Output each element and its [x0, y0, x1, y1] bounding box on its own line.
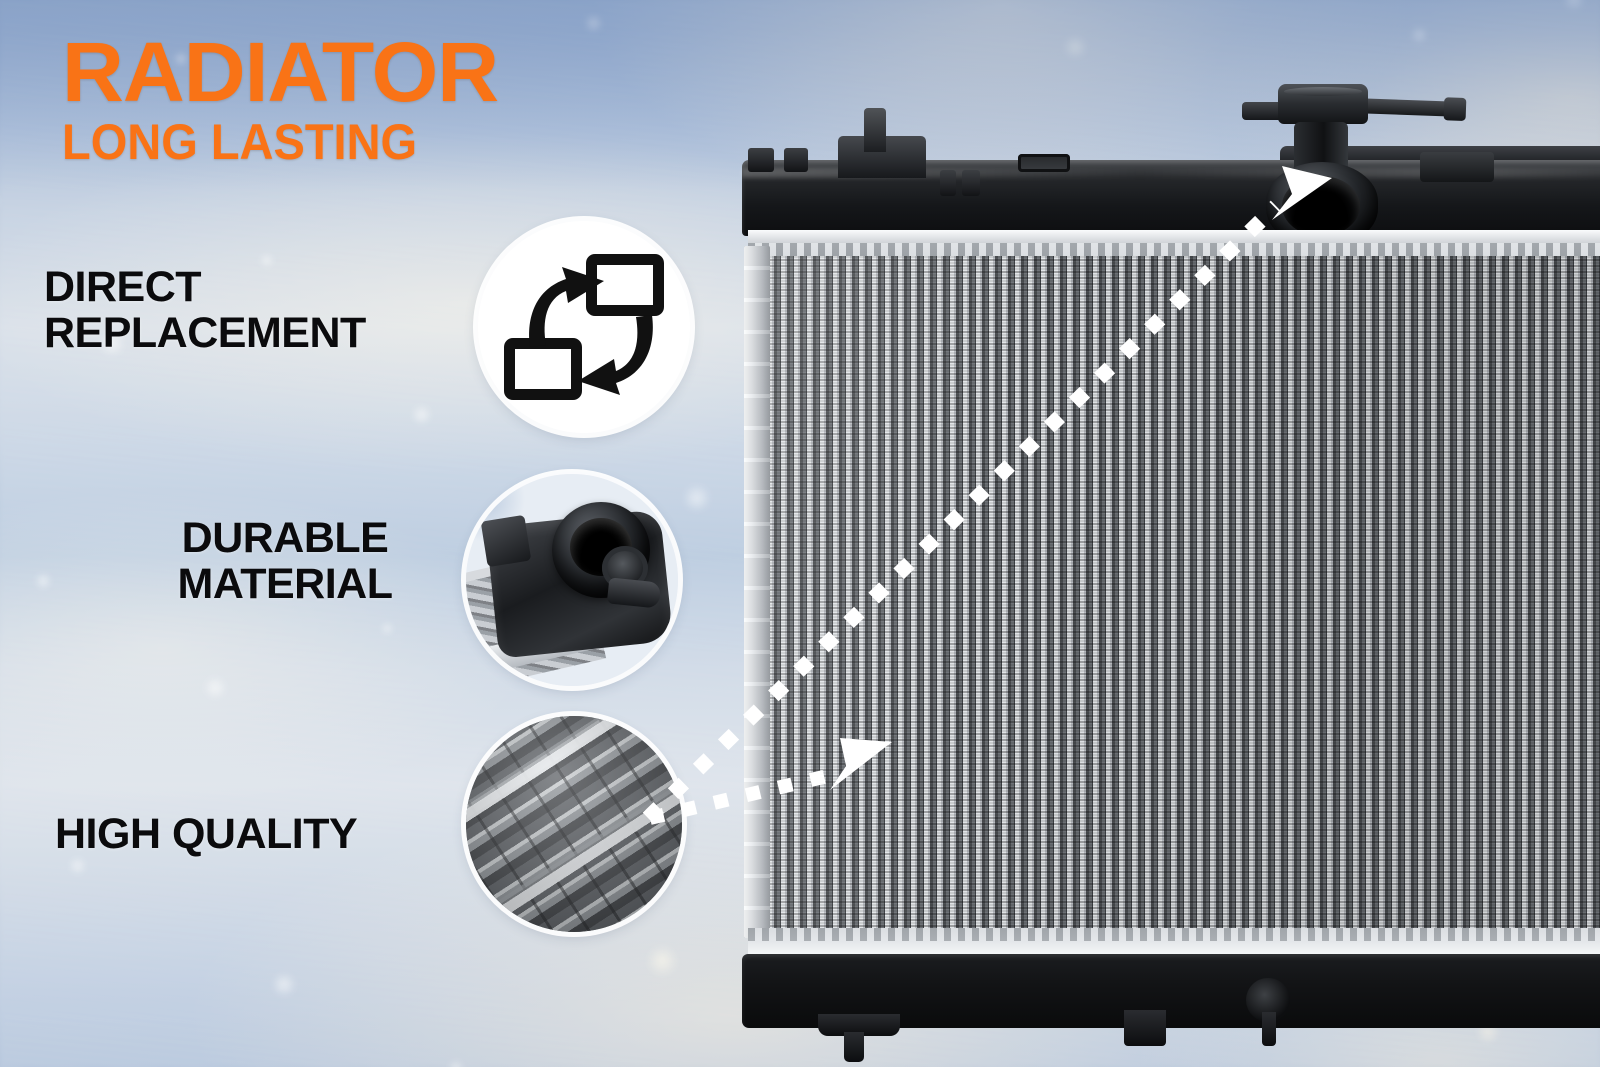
top-tank-right-boss	[1420, 152, 1494, 182]
swap-icon-arrow-down	[564, 311, 660, 403]
side-rail-left	[744, 246, 770, 938]
feature-badge-direct-replacement	[478, 221, 690, 433]
top-tank-notch-a	[940, 170, 956, 196]
swap-exchange-icon	[478, 221, 690, 433]
product-marketing-banner: RADIATOR LONG LASTING DIRECT REPLACEMENT…	[0, 0, 1600, 1067]
filler-neck-bore	[1282, 176, 1360, 236]
feature-label-high-quality: HIGH QUALITY	[55, 812, 357, 858]
feature-badge-durable-material	[466, 474, 678, 686]
top-tank-tab-left-a	[748, 148, 774, 172]
feature-label-direct-replacement: DIRECT REPLACEMENT	[44, 265, 366, 356]
top-tank-boss-post	[864, 108, 886, 152]
filler-neck-cap	[1278, 84, 1368, 124]
feature-label-durable-material: DURABLE MATERIAL	[150, 516, 420, 607]
radiator-fin-macro-photo	[466, 716, 682, 932]
page-subtitle: LONG LASTING	[62, 117, 464, 167]
tank-photo-outlet-nipple	[607, 577, 661, 608]
top-tank-tab-left-b	[784, 148, 808, 172]
tank-photo-mounting-lug	[481, 515, 532, 567]
aluminum-header-top	[748, 230, 1600, 256]
radiator-assembly	[726, 70, 1600, 1020]
feature-label-line2: MATERIAL	[150, 562, 420, 608]
fin-photo-shading	[466, 716, 682, 932]
page-title: RADIATOR	[62, 34, 498, 111]
overflow-nipple	[1362, 98, 1454, 116]
aluminum-header-bottom	[748, 928, 1600, 954]
feature-badge-high-quality	[466, 716, 682, 932]
feature-label-line2: REPLACEMENT	[44, 311, 366, 357]
top-tank-slot	[1018, 154, 1070, 172]
headline-block: RADIATOR LONG LASTING	[62, 34, 490, 167]
feature-label-line1: DIRECT	[44, 265, 366, 311]
bottom-tank-drain-pin	[844, 1032, 864, 1062]
mounting-bracket	[1124, 1010, 1166, 1046]
feature-label-line1: HIGH QUALITY	[55, 812, 357, 858]
drain-petcock-stem	[1262, 1012, 1276, 1046]
feature-label-line1: DURABLE	[150, 516, 420, 562]
radiator-core	[768, 256, 1600, 928]
top-tank-notch-b	[962, 170, 980, 196]
radiator-tank-closeup-photo	[466, 474, 678, 686]
